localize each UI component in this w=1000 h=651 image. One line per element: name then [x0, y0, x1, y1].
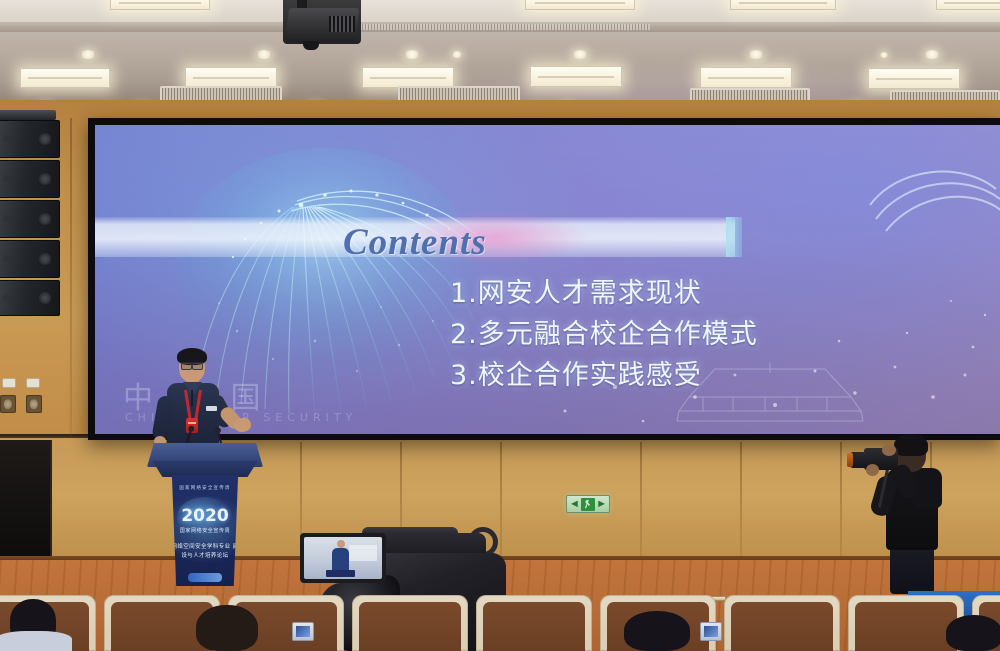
ceiling-panel-light — [362, 67, 454, 88]
lcd-slide-preview — [349, 545, 377, 562]
slide-list-item: 3.校企合作实践感受 — [450, 355, 990, 396]
podium-sponsor-logo — [188, 573, 222, 582]
podium-banner-line-2: 国家网络安全宣传周 — [169, 527, 241, 534]
ceiling-panel-light — [868, 68, 960, 89]
ceiling-downlight — [572, 50, 588, 59]
photographer-hand — [882, 444, 896, 456]
ceiling — [0, 0, 1000, 112]
ceiling-downlight — [880, 52, 888, 58]
ceiling-downlight — [748, 50, 764, 59]
ceiling-panel-light — [530, 66, 622, 87]
audience-seating — [0, 596, 1000, 651]
running-man-icon — [581, 498, 595, 511]
wall-seam — [740, 442, 742, 560]
projector-vent-fins — [329, 16, 355, 32]
line-array-module — [0, 120, 60, 158]
slide-list-item: 2.多元融合校企合作模式 — [450, 314, 990, 355]
ceiling-downlight — [256, 50, 272, 59]
ceiling-panel-light — [185, 67, 277, 88]
audience-head — [624, 611, 690, 651]
seat-cushion — [731, 602, 833, 651]
speaker-podium: 国家网络安全宣传周 2020 国家网络安全宣传周 网络空间安全学科专业 建设与人… — [147, 443, 263, 586]
podium-banner-line-3: 网络空间安全学科专业 建设与人才培养论坛 — [169, 543, 241, 562]
photographer-hand — [866, 464, 879, 476]
lcd-podium-preview — [326, 570, 356, 578]
wall-switch-plate[interactable] — [2, 378, 16, 388]
stage-side-cabinet — [0, 440, 52, 560]
podium-front-banner: 国家网络安全宣传周 2020 国家网络安全宣传周 网络空间安全学科专业 建设与人… — [169, 475, 241, 586]
audience-head — [196, 605, 258, 651]
ceiling-downlight — [452, 51, 462, 58]
seat-back-tablet[interactable] — [292, 622, 314, 641]
ceiling-projector — [283, 0, 361, 44]
seat-cushion — [359, 602, 461, 651]
title-band-cap — [726, 217, 742, 257]
auditorium-scene: 中 国 CHINA CYBER SECURITY — [0, 0, 1000, 651]
line-array-module — [0, 240, 60, 278]
exit-left-arrow-icon: ◄ — [569, 499, 580, 510]
line-array-module — [0, 280, 60, 316]
seat-back-tablet[interactable] — [700, 622, 722, 641]
line-array-speaker-stack — [0, 118, 62, 318]
ceiling-panel-light — [110, 0, 210, 10]
slide-list-item: 1.网安人才需求现状 — [450, 273, 990, 314]
audience-head — [946, 615, 1000, 651]
camcorder-lcd-panel[interactable] — [300, 533, 386, 583]
exit-right-arrow-icon: ► — [596, 499, 607, 510]
dslr-camera-lens — [850, 452, 868, 468]
ceiling-panel-light — [20, 68, 110, 88]
podium-top-face — [149, 461, 261, 477]
wall-seam — [70, 118, 72, 438]
ceiling-panel-light — [936, 0, 1000, 10]
camcorder-lcd-screen — [304, 537, 382, 579]
projector-lens — [303, 41, 319, 50]
audience-shoulder — [0, 631, 72, 651]
auditorium-seat[interactable] — [352, 595, 468, 651]
slide-title: Contents — [343, 221, 487, 264]
seat-cushion — [855, 602, 957, 651]
ceiling-panel-light — [700, 67, 792, 88]
photographer-person — [860, 428, 980, 588]
auditorium-seat[interactable] — [476, 595, 592, 651]
lcd-speaker-preview — [332, 548, 349, 572]
presenter-shirt-logo — [206, 406, 217, 411]
seat-cushion — [483, 602, 585, 651]
ceiling-downlight — [404, 50, 420, 59]
presenter-person — [150, 344, 270, 454]
glasses-icon — [181, 362, 203, 367]
speaker-rigging-bar — [0, 110, 56, 120]
wall-switch-plate[interactable] — [26, 378, 40, 388]
presenter-shirt-placket — [191, 390, 193, 406]
ceiling-downlight — [80, 50, 96, 59]
photographer-hair — [894, 434, 928, 456]
line-array-module — [0, 160, 60, 198]
slide-contents-list: 1.网安人才需求现状 2.多元融合校企合作模式 3.校企合作实践感受 — [450, 273, 990, 396]
ceiling-downlight — [924, 50, 940, 59]
photographer-legs — [890, 546, 934, 594]
perforated-strip — [350, 24, 650, 30]
line-array-module — [0, 200, 60, 238]
ceiling-panel-light — [525, 0, 635, 10]
wall-outlet-plate[interactable] — [0, 395, 16, 413]
wall-seam — [640, 442, 642, 560]
emergency-exit-sign: ◄ ► — [566, 495, 610, 513]
wall-seam — [840, 442, 842, 560]
auditorium-seat[interactable] — [724, 595, 840, 651]
ceiling-panel-light — [730, 0, 836, 10]
podium-banner-line-1: 国家网络安全宣传周 — [169, 485, 241, 491]
wall-outlet-plate[interactable] — [26, 395, 42, 413]
podium-banner-year: 2020 — [169, 508, 241, 525]
